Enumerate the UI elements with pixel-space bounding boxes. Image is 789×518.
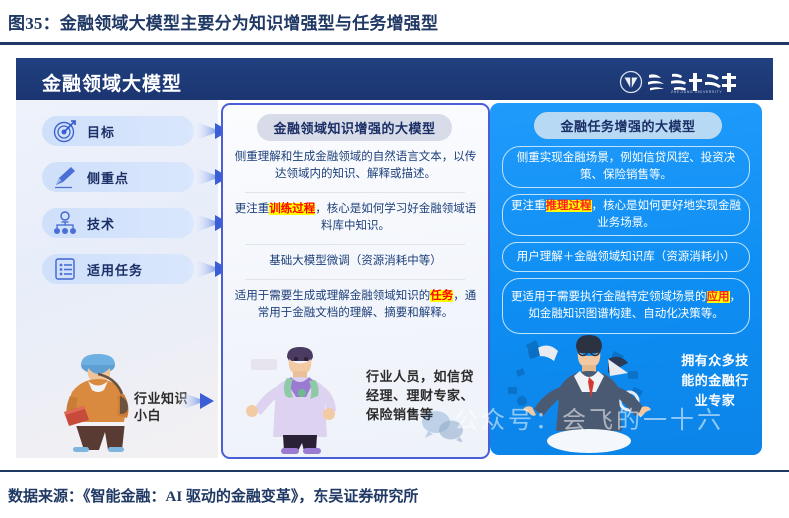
network-people-icon: [48, 210, 82, 236]
task-row-highlight: 应用: [707, 291, 730, 303]
task-enhanced-panel: 金融任务增强的大模型 侧重实现金融场景，例如信贷风控、投资决策、保险销售等。 更…: [490, 103, 762, 455]
task-row-tasks: 更适用于需要执行金融特定领域场景的应用，如金融知识图谱构建、自动化决策等。: [502, 278, 750, 334]
svg-text:ZHEJIANG UNIVERSITY: ZHEJIANG UNIVERSITY: [671, 90, 722, 94]
source-note: 数据来源：《智能金融：AI 驱动的金融变革》，东吴证券研究所: [8, 485, 418, 506]
task-panel-title: 金融任务增强的大模型: [534, 112, 722, 139]
category-pill-label: 适用任务: [87, 260, 143, 279]
zhejiang-university-logo: ZHEJIANG UNIVERSITY: [619, 70, 751, 94]
knowledge-row-text: 侧重理解和生成金融领域的自然语言文本，以传达领域内的知识、解释或描述。: [235, 151, 477, 180]
knowledge-divider-3: [245, 279, 465, 280]
professional-doctor-illustration: [241, 343, 359, 455]
task-row-text: 用户理解＋金融领域知识库（资源消耗小）: [517, 249, 736, 266]
knowledge-divider-2: [245, 244, 465, 245]
task-row-text: 侧重实现金融场景，例如信贷风控、投资决策、保险销售等。: [509, 150, 743, 184]
checklist-icon: [48, 256, 82, 282]
pencil-icon: [48, 164, 82, 190]
task-row-goal: 侧重实现金融场景，例如信贷风控、投资决策、保险销售等。: [502, 146, 750, 188]
task-row-highlight: 推理过程: [546, 200, 592, 212]
knowledge-row-technology: 基础大模型微调（资源消耗中等）: [233, 253, 478, 270]
task-row-focus: 更注重推理过程，核心是如何更好地实现金融业务场景。: [502, 194, 750, 236]
knowledge-row-text: 基础大模型微调（资源消耗中等）: [269, 255, 442, 267]
knowledge-enhanced-panel: 金融领域知识增强的大模型 侧重理解和生成金融领域的自然语言文本，以传达领域内的知…: [221, 103, 490, 459]
category-pill-label: 侧重点: [87, 168, 129, 187]
knowledge-row-highlight: 训练过程: [269, 203, 315, 215]
task-row-technology: 用户理解＋金融领域知识库（资源消耗小）: [502, 242, 750, 272]
target-icon: [48, 118, 82, 144]
knowledge-row-focus: 更注重训练过程，核心是如何学习好金融领域语料库中知识。: [233, 201, 478, 235]
category-pill-label: 目标: [87, 122, 115, 141]
task-row-text-pre: 更适用于需要执行金融特定领域场景的: [511, 291, 707, 303]
slide-container: 金融领域大模型 ZHEJIANG UNIVERSITY: [14, 55, 775, 460]
category-pill-target[interactable]: 目标: [42, 116, 194, 146]
knowledge-panel-title: 金融领域知识增强的大模型: [257, 114, 452, 141]
knowledge-row-goal: 侧重理解和生成金融领域的自然语言文本，以传达领域内的知识、解释或描述。: [233, 149, 478, 183]
knowledge-row-text-pre: 更注重: [235, 203, 270, 215]
left-category-column: 目标 侧重点: [16, 100, 218, 458]
flow-arrow-persona: [176, 388, 216, 414]
slide-title: 金融领域大模型: [42, 69, 182, 96]
right-persona-label: 拥有众多技能的金融行业专家: [678, 351, 752, 411]
category-pill-label: 技术: [87, 214, 115, 233]
footer-divider: [0, 470, 789, 472]
category-pill-focus[interactable]: 侧重点: [42, 162, 194, 192]
knowledge-divider-1: [245, 192, 465, 193]
wechat-icon: [420, 408, 464, 442]
knowledge-row-text-pre: 适用于需要生成或理解金融领域知识的: [235, 290, 431, 302]
knowledge-row-highlight: 任务: [430, 290, 453, 302]
knowledge-row-text-post: ，核心是如何学习好金融领域语料库中知识。: [315, 203, 476, 232]
knowledge-row-tasks: 适用于需要生成或理解金融领域知识的任务，通常用于金融文档的理解、摘要和解释。: [233, 288, 478, 322]
slide-header-bar: 金融领域大模型 ZHEJIANG UNIVERSITY: [16, 58, 773, 100]
category-pill-tasks[interactable]: 适用任务: [42, 254, 194, 284]
task-row-text-pre: 更注重: [511, 200, 546, 212]
task-row-text-post: ，核心是如何更好地实现金融业务场景。: [592, 200, 742, 229]
category-pill-technology[interactable]: 技术: [42, 208, 194, 238]
slide-body: 目标 侧重点: [16, 100, 773, 458]
figure-caption: 图35：金融领域大模型主要分为知识增强型与任务增强型: [8, 9, 768, 37]
caption-divider: [0, 42, 789, 45]
multitasking-expert-illustration: [502, 331, 672, 453]
